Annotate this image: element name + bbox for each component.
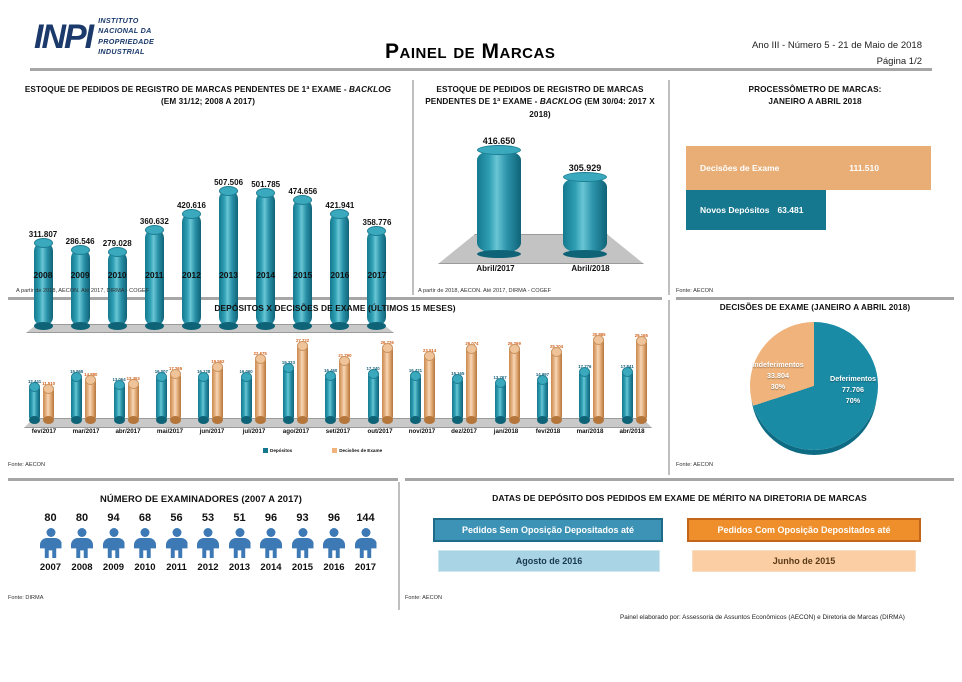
divider-h1-right xyxy=(676,297,954,300)
panel-pie-title: DECISÕES DE EXAME (JANEIRO A ABRIL 2018) xyxy=(676,302,954,314)
examiner-column: 932015 xyxy=(287,512,318,573)
bar-column: 16.060 xyxy=(239,332,252,420)
bar-cylinder xyxy=(170,373,181,420)
bar-cylinder xyxy=(325,375,336,420)
bar-group: 13.76726.269 xyxy=(494,332,521,420)
bar-cylinder xyxy=(551,351,562,420)
bar-group: 12.44111.510 xyxy=(28,332,55,420)
person-icon xyxy=(40,528,62,558)
bar-group: 15.96514.880 xyxy=(70,332,97,420)
divider-v3 xyxy=(668,300,670,475)
examiner-count: 56 xyxy=(170,512,182,524)
pie-value-indeferimentos: 33.804 xyxy=(742,371,814,382)
legend-swatch xyxy=(263,448,268,453)
bar-group: 19.33327.222 xyxy=(282,332,309,420)
datas-com-oposicao-header: Pedidos Com Oposição Depositados até xyxy=(687,518,921,542)
examiner-year: 2011 xyxy=(166,562,187,573)
processometro-bar-depositos: Novos Depósitos 63.481 xyxy=(686,190,826,230)
bar-column: 14.997 xyxy=(536,332,549,420)
person-icon xyxy=(166,528,188,558)
monthly-bars: 12.44111.51015.96514.88013.06413.45316.0… xyxy=(28,320,648,420)
axis-tick-label: 2016 xyxy=(327,270,353,280)
person-icon xyxy=(355,528,377,558)
backlog-april-source: A partir de 2018, AECON. Até 2017, DIRMA… xyxy=(418,288,551,294)
monthly-source: Fonte: AECON xyxy=(8,462,45,468)
axis-tick-label: nov/2017 xyxy=(402,428,442,435)
backlog-annual-source: A partir de 2018, AECON. Até 2017, DIRMA… xyxy=(16,288,149,294)
examiner-count: 96 xyxy=(265,512,277,524)
bar-column: 22.675 xyxy=(254,332,267,420)
backlog-april-title-italic: BACKLOG xyxy=(540,97,582,106)
person-icon xyxy=(229,528,251,558)
backlog-april-title-a: ESTOQUE DE PEDIDOS DE REGISTRO DE MARCAS xyxy=(418,84,662,96)
processometro-title-a: PROCESSÔMETRO DE MARCAS: xyxy=(676,84,954,96)
axis-tick-label: Abril/2017 xyxy=(456,264,536,273)
processometro-label-decisoes: Decisões de Exame xyxy=(700,163,779,173)
axis-tick-label: 2013 xyxy=(216,270,242,280)
bar-cylinder xyxy=(198,376,209,420)
bar-group: 14.99725.204 xyxy=(536,332,563,420)
bar-column: 19.562 xyxy=(211,332,224,420)
bar-column: 30.865 xyxy=(592,332,605,420)
examiner-count: 93 xyxy=(296,512,308,524)
bar-cylinder xyxy=(466,348,477,420)
bar-cylinder xyxy=(85,379,96,420)
bar-column: 15.965 xyxy=(70,332,83,420)
bar-cylinder xyxy=(339,360,350,420)
bar-group: 16.00717.265 xyxy=(155,332,182,420)
person-icon xyxy=(71,528,93,558)
bar-column: 13.453 xyxy=(127,332,140,420)
axis-tick-label: jul/2017 xyxy=(234,428,274,435)
person-icon xyxy=(292,528,314,558)
panel-pie: DECISÕES DE EXAME (JANEIRO A ABRIL 2018)… xyxy=(676,302,954,474)
axis-tick-label: 2014 xyxy=(253,270,279,280)
backlog-annual-title-italic: BACKLOG xyxy=(349,85,391,94)
bar-cylinder xyxy=(382,347,393,420)
examiners-source: Fonte: DIRMA xyxy=(8,595,43,601)
bar-group: 16.12819.562 xyxy=(197,332,224,420)
divider-v2 xyxy=(668,80,670,295)
datas-source: Fonte: AECON xyxy=(405,595,442,601)
legend-label: Depósitos xyxy=(270,448,292,453)
legend-swatch xyxy=(332,448,337,453)
bar-cylinder xyxy=(255,358,266,420)
examiner-column: 512013 xyxy=(224,512,255,573)
processometro-source: Fonte: AECON xyxy=(676,288,713,294)
pie-slice-indeferimentos: Indeferimentos 33.804 30% xyxy=(742,360,814,392)
bar-cylinder xyxy=(537,379,548,420)
examiner-year: 2017 xyxy=(355,562,376,573)
pie-slice-deferimentos: Deferimentos 77.706 70% xyxy=(814,374,892,406)
bar-column: 13.064 xyxy=(112,332,125,420)
examiner-year: 2012 xyxy=(197,562,218,573)
bar-cylinder xyxy=(114,384,125,420)
axis-tick-label: 2011 xyxy=(141,270,167,280)
pie-pct-indeferimentos: 30% xyxy=(742,382,814,393)
panel-processometro-title: PROCESSÔMETRO DE MARCAS: JANEIRO A ABRIL… xyxy=(676,84,954,109)
person-icon xyxy=(197,528,219,558)
axis-tick-label: 2010 xyxy=(104,270,130,280)
datas-sem-oposicao-value: Agosto de 2016 xyxy=(438,550,660,572)
bar-column: 17.240 xyxy=(367,332,380,420)
examiner-column: 532012 xyxy=(193,512,224,573)
axis-tick-label: out/2017 xyxy=(360,428,400,435)
page-header: INPI INSTITUTO NACIONAL DA PROPRIEDADE I… xyxy=(0,0,962,72)
examiner-column: 562011 xyxy=(161,512,192,573)
axis-tick-label: jun/2017 xyxy=(192,428,232,435)
panel-backlog-april: ESTOQUE DE PEDIDOS DE REGISTRO DE MARCAS… xyxy=(418,84,662,294)
axis-tick-label: mar/2017 xyxy=(66,428,106,435)
painel-de-marcas-page: INPI INSTITUTO NACIONAL DA PROPRIEDADE I… xyxy=(0,0,962,682)
examiner-count: 80 xyxy=(76,512,88,524)
header-divider xyxy=(30,68,932,71)
bar-column: 305.929 xyxy=(555,136,615,254)
examiner-column: 962014 xyxy=(256,512,287,573)
person-icon xyxy=(260,528,282,558)
processometro-title-b: JANEIRO A ABRIL 2018 xyxy=(676,96,954,108)
examiner-year: 2007 xyxy=(40,562,61,573)
bar-cylinder xyxy=(424,355,435,420)
bar-column: 14.880 xyxy=(84,332,97,420)
person-icon xyxy=(323,528,345,558)
bar-group: 16.06022.675 xyxy=(239,332,266,420)
bar-cylinder xyxy=(579,371,590,420)
bar-cylinder xyxy=(410,375,421,420)
divider-v4 xyxy=(398,482,400,610)
bar-cylinder xyxy=(128,383,139,420)
examiner-year: 2014 xyxy=(260,562,281,573)
examiner-year: 2016 xyxy=(323,562,344,573)
axis-tick-label: fev/2017 xyxy=(24,428,64,435)
examiner-year: 2015 xyxy=(292,562,313,573)
pie-label-indeferimentos: Indeferimentos xyxy=(742,360,814,371)
monthly-axis: fev/2017mar/2017abr/2017mai/2017jun/2017… xyxy=(24,428,652,435)
inpi-logo-text: INSTITUTO NACIONAL DA PROPRIEDADE INDUST… xyxy=(98,16,154,58)
bar-column: 12.441 xyxy=(28,332,41,420)
bar-cylinder xyxy=(71,376,82,420)
divider-h2-left xyxy=(8,478,398,481)
bar-cylinder xyxy=(29,386,40,420)
bar-cylinder xyxy=(156,376,167,420)
examiner-year: 2009 xyxy=(103,562,124,573)
panel-backlog-annual: ESTOQUE DE PEDIDOS DE REGISTRO DE MARCAS… xyxy=(8,84,408,294)
axis-tick-label: ago/2017 xyxy=(276,428,316,435)
pie-label-deferimentos: Deferimentos xyxy=(814,374,892,385)
datas-sem-oposicao-header: Pedidos Sem Oposição Depositados até xyxy=(433,518,663,542)
axis-tick-label: fev/2018 xyxy=(528,428,568,435)
processometro-bar-decisoes: Decisões de Exame 111.510 xyxy=(686,146,931,190)
axis-tick-label: mar/2018 xyxy=(570,428,610,435)
examiner-count: 51 xyxy=(233,512,245,524)
bar-column: 11.510 xyxy=(42,332,55,420)
bar-column: 13.767 xyxy=(494,332,507,420)
bar-column: 25.204 xyxy=(550,332,563,420)
bar-column: 26.074 xyxy=(465,332,478,420)
examiner-count: 144 xyxy=(356,512,374,524)
bar-column: 17.265 xyxy=(169,332,182,420)
monthly-legend: DepósitosDecisões de Exame xyxy=(263,448,382,453)
bar-cylinder xyxy=(622,371,633,420)
legend-item: Depósitos xyxy=(263,448,292,453)
issue-meta: Ano III - Número 5 - 21 de Maio de 2018 … xyxy=(752,38,922,70)
bar-column: 16.460 xyxy=(324,332,337,420)
backlog-annual-title-a: ESTOQUE DE PEDIDOS DE REGISTRO DE MARCAS… xyxy=(25,85,349,94)
bar-column: 23.514 xyxy=(423,332,436,420)
examiners-pictogram-row: 8020078020089420096820105620115320125120… xyxy=(35,512,381,573)
bar-cylinder xyxy=(477,149,521,254)
examiner-count: 53 xyxy=(202,512,214,524)
bar-group: 13.06413.453 xyxy=(112,332,139,420)
axis-tick-label: Abril/2018 xyxy=(551,264,631,273)
examiner-column: 1442017 xyxy=(350,512,381,573)
panel-monthly: DEPÓSITOS X DECISÕES DE EXAME (ÚLTIMOS 1… xyxy=(8,302,662,474)
bar-cylinder xyxy=(43,388,54,420)
bar-group: 17.77630.865 xyxy=(578,332,605,420)
axis-tick-label: set/2017 xyxy=(318,428,358,435)
logo-line-3: PROPRIEDADE xyxy=(98,37,154,47)
backlog-annual-title-b: (EM 31/12; 2008 A 2017) xyxy=(8,96,408,108)
axis-tick-label: mai/2017 xyxy=(150,428,190,435)
pie-source: Fonte: AECON xyxy=(676,462,713,468)
bar-cylinder xyxy=(241,376,252,420)
bar-column: 15.165 xyxy=(451,332,464,420)
bar-column: 26.726 xyxy=(381,332,394,420)
backlog-annual-axis: 2008200920102011201220132014201520162017 xyxy=(30,270,390,280)
examiner-column: 942009 xyxy=(98,512,129,573)
bar-group: 16.46021.790 xyxy=(324,332,351,420)
backlog-april-title-b: PENDENTES DE 1ª EXAME - xyxy=(425,97,540,106)
bar-column: 416.650 xyxy=(469,136,529,254)
bar-cylinder xyxy=(297,345,308,420)
examiner-column: 802008 xyxy=(67,512,98,573)
bar-cylinder xyxy=(593,339,604,420)
bar-column: 16.128 xyxy=(197,332,210,420)
bar-cylinder xyxy=(212,366,223,420)
datas-com-oposicao-value: Junho de 2015 xyxy=(692,550,916,572)
bar-column: 27.222 xyxy=(296,332,309,420)
examiner-count: 94 xyxy=(107,512,119,524)
legend-label: Decisões de Exame xyxy=(339,448,382,453)
divider-v1 xyxy=(412,80,414,295)
inpi-logo-mark: INPI xyxy=(34,20,92,54)
axis-tick-label: 2008 xyxy=(30,270,56,280)
pie-pct-deferimentos: 70% xyxy=(814,396,892,407)
bar-cylinder xyxy=(563,176,607,254)
panel-monthly-title: DEPÓSITOS X DECISÕES DE EXAME (ÚLTIMOS 1… xyxy=(8,302,662,315)
bar-cylinder xyxy=(452,378,463,420)
examiner-year: 2013 xyxy=(229,562,250,573)
bar-column: 19.333 xyxy=(282,332,295,420)
axis-tick-label: 2015 xyxy=(290,270,316,280)
bar-column: 21.790 xyxy=(338,332,351,420)
processometro-value-depositos: 63.481 xyxy=(777,205,803,215)
examiner-count: 96 xyxy=(328,512,340,524)
panel-datas: DATAS DE DEPÓSITO DOS PEDIDOS EM EXAME D… xyxy=(405,492,954,610)
bar-cylinder xyxy=(509,348,520,420)
bar-cylinder xyxy=(495,382,506,420)
legend-item: Decisões de Exame xyxy=(332,448,382,453)
examiner-year: 2010 xyxy=(134,562,155,573)
pie-value-deferimentos: 77.706 xyxy=(814,385,892,396)
inpi-logo: INPI INSTITUTO NACIONAL DA PROPRIEDADE I… xyxy=(34,16,154,58)
backlog-annual-bars: 311.807286.546279.028360.632420.616507.5… xyxy=(30,144,390,326)
person-icon xyxy=(134,528,156,558)
page-credit: Painel elaborado por: Assessoria de Assu… xyxy=(620,614,905,621)
pie-chart: Deferimentos 77.706 70% Indeferimentos 3… xyxy=(676,318,954,458)
bar-column: 26.269 xyxy=(508,332,521,420)
examiner-column: 962016 xyxy=(319,512,350,573)
axis-tick-label: abr/2017 xyxy=(108,428,148,435)
axis-tick-label: jan/2018 xyxy=(486,428,526,435)
logo-line-4: INDUSTRIAL xyxy=(98,47,154,57)
issue-line: Ano III - Número 5 - 21 de Maio de 2018 xyxy=(752,38,922,54)
bar-column: 16.421 xyxy=(409,332,422,420)
bar-group: 17.24026.726 xyxy=(367,332,394,420)
backlog-april-bars: 416.650305.929 xyxy=(456,124,628,254)
bar-cylinder xyxy=(636,340,647,420)
processometro-label-depositos: Novos Depósitos xyxy=(700,205,769,215)
axis-tick-label: 2009 xyxy=(67,270,93,280)
backlog-april-axis: Abril/2017Abril/2018 xyxy=(448,264,638,273)
examiner-year: 2008 xyxy=(71,562,92,573)
panel-processometro: PROCESSÔMETRO DE MARCAS: JANEIRO A ABRIL… xyxy=(676,84,954,294)
axis-tick-label: 2017 xyxy=(364,270,390,280)
bar-column: 16.007 xyxy=(155,332,168,420)
bar-group: 15.16526.074 xyxy=(451,332,478,420)
person-icon xyxy=(103,528,125,558)
axis-tick-label: dez/2017 xyxy=(444,428,484,435)
axis-tick-label: abr/2018 xyxy=(612,428,652,435)
divider-h2-right xyxy=(405,478,954,481)
bar-column: 29.165 xyxy=(635,332,648,420)
bar-cylinder xyxy=(283,367,294,420)
page-title: Painel de Marcas xyxy=(385,40,555,64)
examiner-count: 80 xyxy=(44,512,56,524)
panel-backlog-april-title: ESTOQUE DE PEDIDOS DE REGISTRO DE MARCAS… xyxy=(418,84,662,121)
panel-datas-title: DATAS DE DEPÓSITO DOS PEDIDOS EM EXAME D… xyxy=(405,492,954,505)
examiner-column: 682010 xyxy=(130,512,161,573)
axis-tick-label: 2012 xyxy=(178,270,204,280)
bar-group: 16.42123.514 xyxy=(409,332,436,420)
examiner-column: 802007 xyxy=(35,512,66,573)
logo-line-2: NACIONAL DA xyxy=(98,26,154,36)
bar-column: 17.841 xyxy=(621,332,634,420)
processometro-value-decisoes: 111.510 xyxy=(849,163,879,173)
bar-column: 17.776 xyxy=(578,332,591,420)
logo-line-1: INSTITUTO xyxy=(98,16,154,26)
panel-examiners: NÚMERO DE EXAMINADORES (2007 A 2017) 802… xyxy=(8,492,394,610)
examiner-count: 68 xyxy=(139,512,151,524)
panel-backlog-annual-title: ESTOQUE DE PEDIDOS DE REGISTRO DE MARCAS… xyxy=(8,84,408,109)
bar-group: 17.84129.165 xyxy=(621,332,648,420)
bar-cylinder xyxy=(368,373,379,420)
panel-examiners-title: NÚMERO DE EXAMINADORES (2007 A 2017) xyxy=(8,492,394,506)
